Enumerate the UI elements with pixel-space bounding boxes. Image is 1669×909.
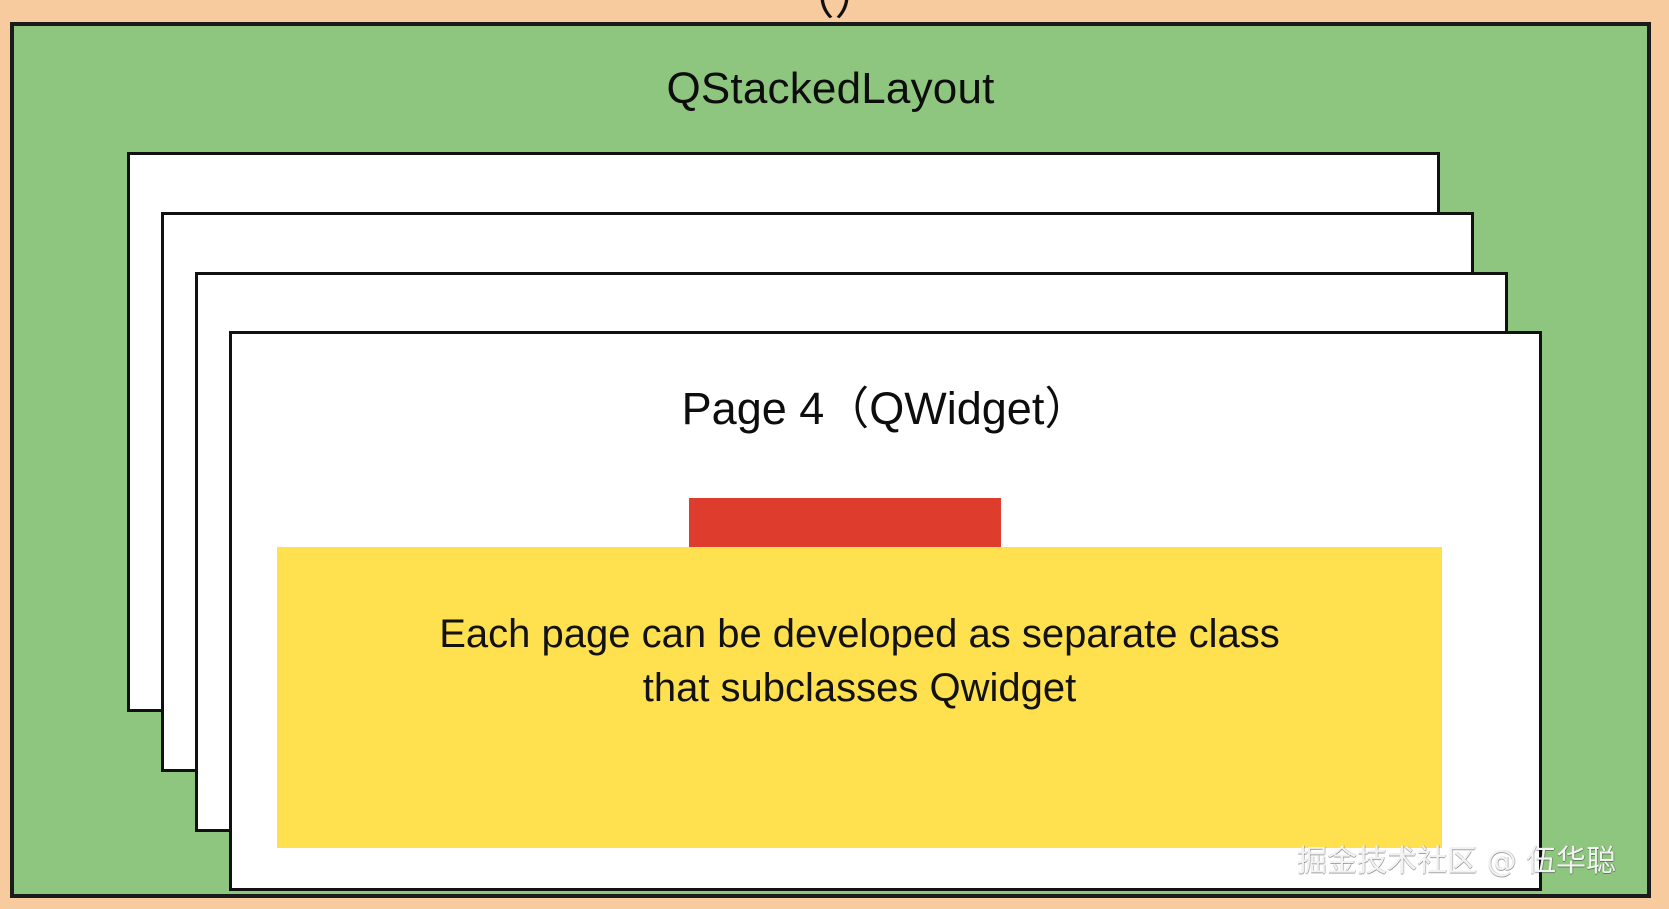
qstackedlayout-container: QStackedLayout Page 4（QWidget） Each page… [10,22,1651,898]
yellow-note-block: Each page can be developed as separate c… [277,547,1442,848]
yellow-note-line-1: Each page can be developed as separate c… [277,607,1442,661]
diagram-canvas: （） QStackedLayout Page 4（QWidget） Each p… [0,0,1669,909]
stacked-page-4-active[interactable]: Page 4（QWidget） Each page can be develop… [229,331,1542,891]
yellow-note-line-2: that subclasses Qwidget [277,661,1442,715]
page-4-title: Page 4（QWidget） [232,372,1539,437]
qstackedlayout-label: QStackedLayout [14,64,1647,114]
yellow-note-text: Each page can be developed as separate c… [277,607,1442,716]
watermark-text: 掘金技术社区 @ 伍华聪 [1297,836,1616,880]
